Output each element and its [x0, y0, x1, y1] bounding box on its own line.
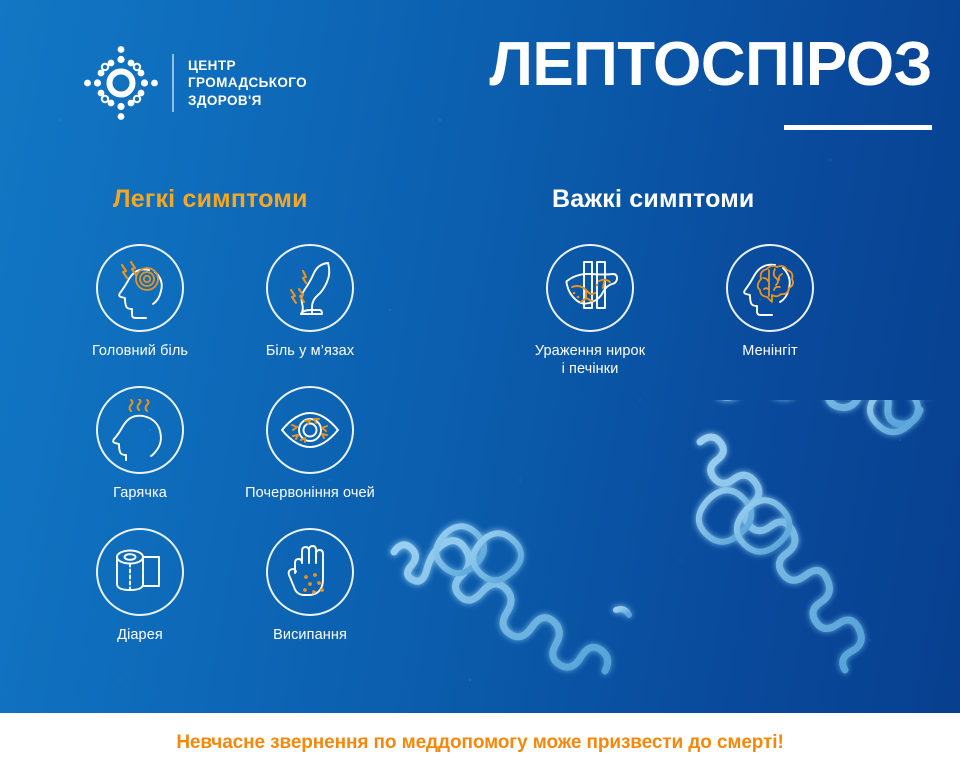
liver-kidney-icon — [559, 259, 621, 317]
symptom-item-red-eyes: Почервоніння очей — [210, 386, 410, 503]
symptom-item-muscle-pain: Біль у м’язах — [210, 244, 410, 361]
symptom-label: Біль у м’язах — [210, 343, 410, 361]
symptom-label: Почервоніння очей — [210, 485, 410, 503]
head-fever-icon — [109, 399, 171, 461]
cgz-dot-diamond-logo-icon — [84, 46, 158, 120]
symptom-item-rash: Висипання — [210, 528, 410, 645]
symptom-icon-frame — [96, 386, 184, 474]
severe-symptoms-heading: Важкі симптоми — [552, 185, 754, 214]
mild-symptoms-heading: Легкі симптоми — [113, 185, 308, 214]
head-brain-meningitis-icon — [739, 257, 801, 319]
symptom-icon-frame — [546, 244, 634, 332]
organization-logo: ЦЕНТР ГРОМАДСЬКОГО ЗДОРОВ'Я — [84, 46, 307, 120]
page-title: ЛЕПТОСПІРОЗ — [489, 34, 932, 96]
title-underline-rule — [784, 125, 932, 130]
infographic-poster: ЦЕНТР ГРОМАДСЬКОГО ЗДОРОВ'Я ЛЕПТОСПІРОЗ … — [0, 0, 960, 772]
symptom-label: Висипання — [210, 627, 410, 645]
poster-header: ЦЕНТР ГРОМАДСЬКОГО ЗДОРОВ'Я ЛЕПТОСПІРОЗ — [0, 0, 960, 150]
symptom-item-meningitis: Менінгіт — [670, 244, 870, 361]
hand-rash-icon — [282, 543, 338, 601]
symptom-icon-frame — [266, 528, 354, 616]
red-eye-icon — [278, 398, 342, 462]
warning-text: Невчасне звернення по меддопомогу може п… — [176, 732, 783, 754]
symptom-icon-frame — [266, 244, 354, 332]
symptom-label: Менінгіт — [670, 343, 870, 361]
symptom-icon-frame — [726, 244, 814, 332]
head-headache-icon — [109, 257, 171, 319]
leg-muscle-pain-icon — [279, 257, 341, 319]
symptom-icon-frame — [266, 386, 354, 474]
symptom-icon-frame — [96, 528, 184, 616]
symptom-item-liver-kidney-damage: Ураження нирок і печінки — [490, 244, 690, 378]
warning-banner: Невчасне звернення по меддопомогу може п… — [0, 713, 960, 772]
toilet-paper-roll-icon — [110, 542, 170, 602]
logo-divider — [172, 54, 174, 112]
leptospira-bacteria-illustration — [380, 400, 960, 720]
symptom-label: Ураження нирок і печінки — [490, 343, 690, 378]
organization-name: ЦЕНТР ГРОМАДСЬКОГО ЗДОРОВ'Я — [188, 57, 307, 109]
symptom-icon-frame — [96, 244, 184, 332]
